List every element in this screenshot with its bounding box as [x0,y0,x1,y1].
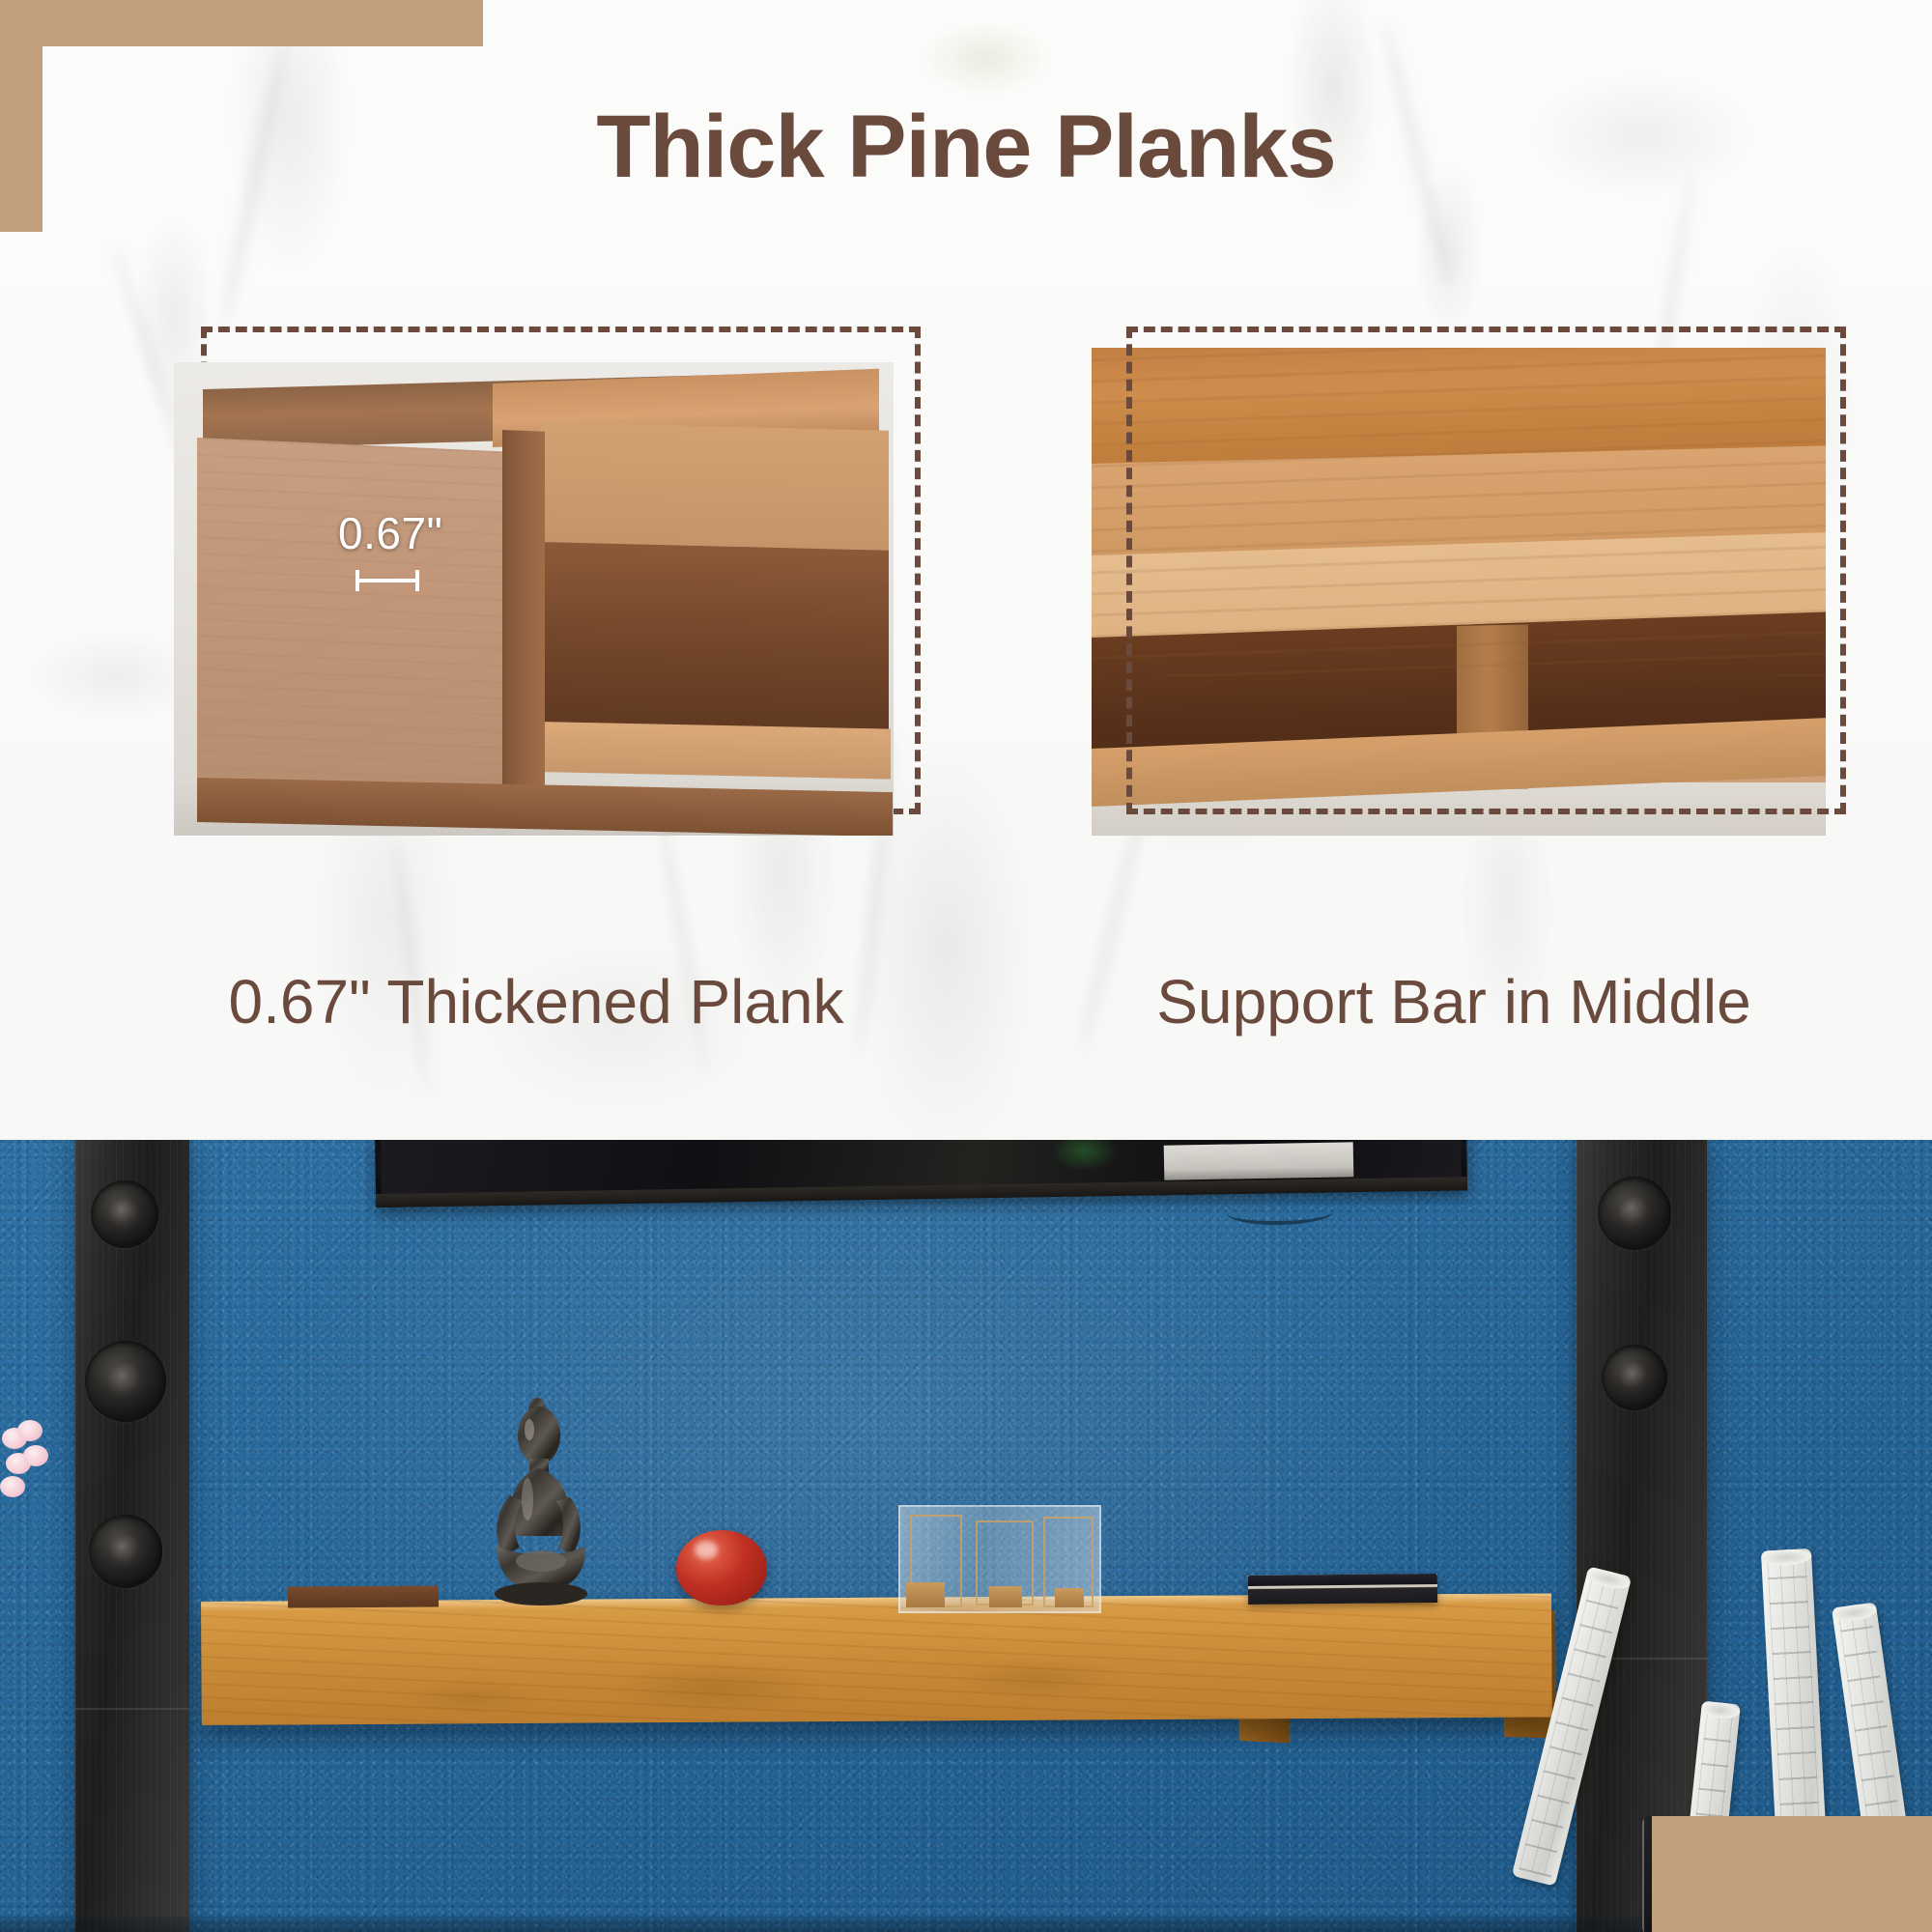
feature-cards-row: 0.67" [0,290,1932,908]
book-on-shelf [1248,1574,1437,1605]
dimension-bracket-icon [354,568,421,593]
red-egg-ornament [676,1530,767,1605]
glass-display-box [898,1505,1101,1613]
top-feature-panel: Thick Pine Planks [0,0,1932,1140]
buddha-statue [473,1395,609,1609]
wall-frame [1164,1142,1354,1179]
lifestyle-photo [0,1140,1932,1932]
dimension-callout-label: 0.67" [338,507,442,559]
feature-caption-thickened-plank: 0.67" Thickened Plank [150,966,923,1037]
infographic-canvas: Thick Pine Planks [0,0,1932,1932]
feature-photo-thickened-plank: 0.67" [174,362,894,836]
speaker-tower-left [75,1140,189,1932]
small-wood-block [288,1585,439,1607]
cherry-blossom [0,1420,58,1507]
feature-photo-support-bar [1092,348,1826,836]
corner-block-bottom-right [1652,1816,1932,1932]
feature-captions-row: 0.67" Thickened Plank Support Bar in Mid… [0,966,1932,1072]
feature-caption-support-bar: Support Bar in Middle [1067,966,1840,1037]
page-title: Thick Pine Planks [0,97,1932,198]
floating-wood-shelf [201,1593,1552,1725]
